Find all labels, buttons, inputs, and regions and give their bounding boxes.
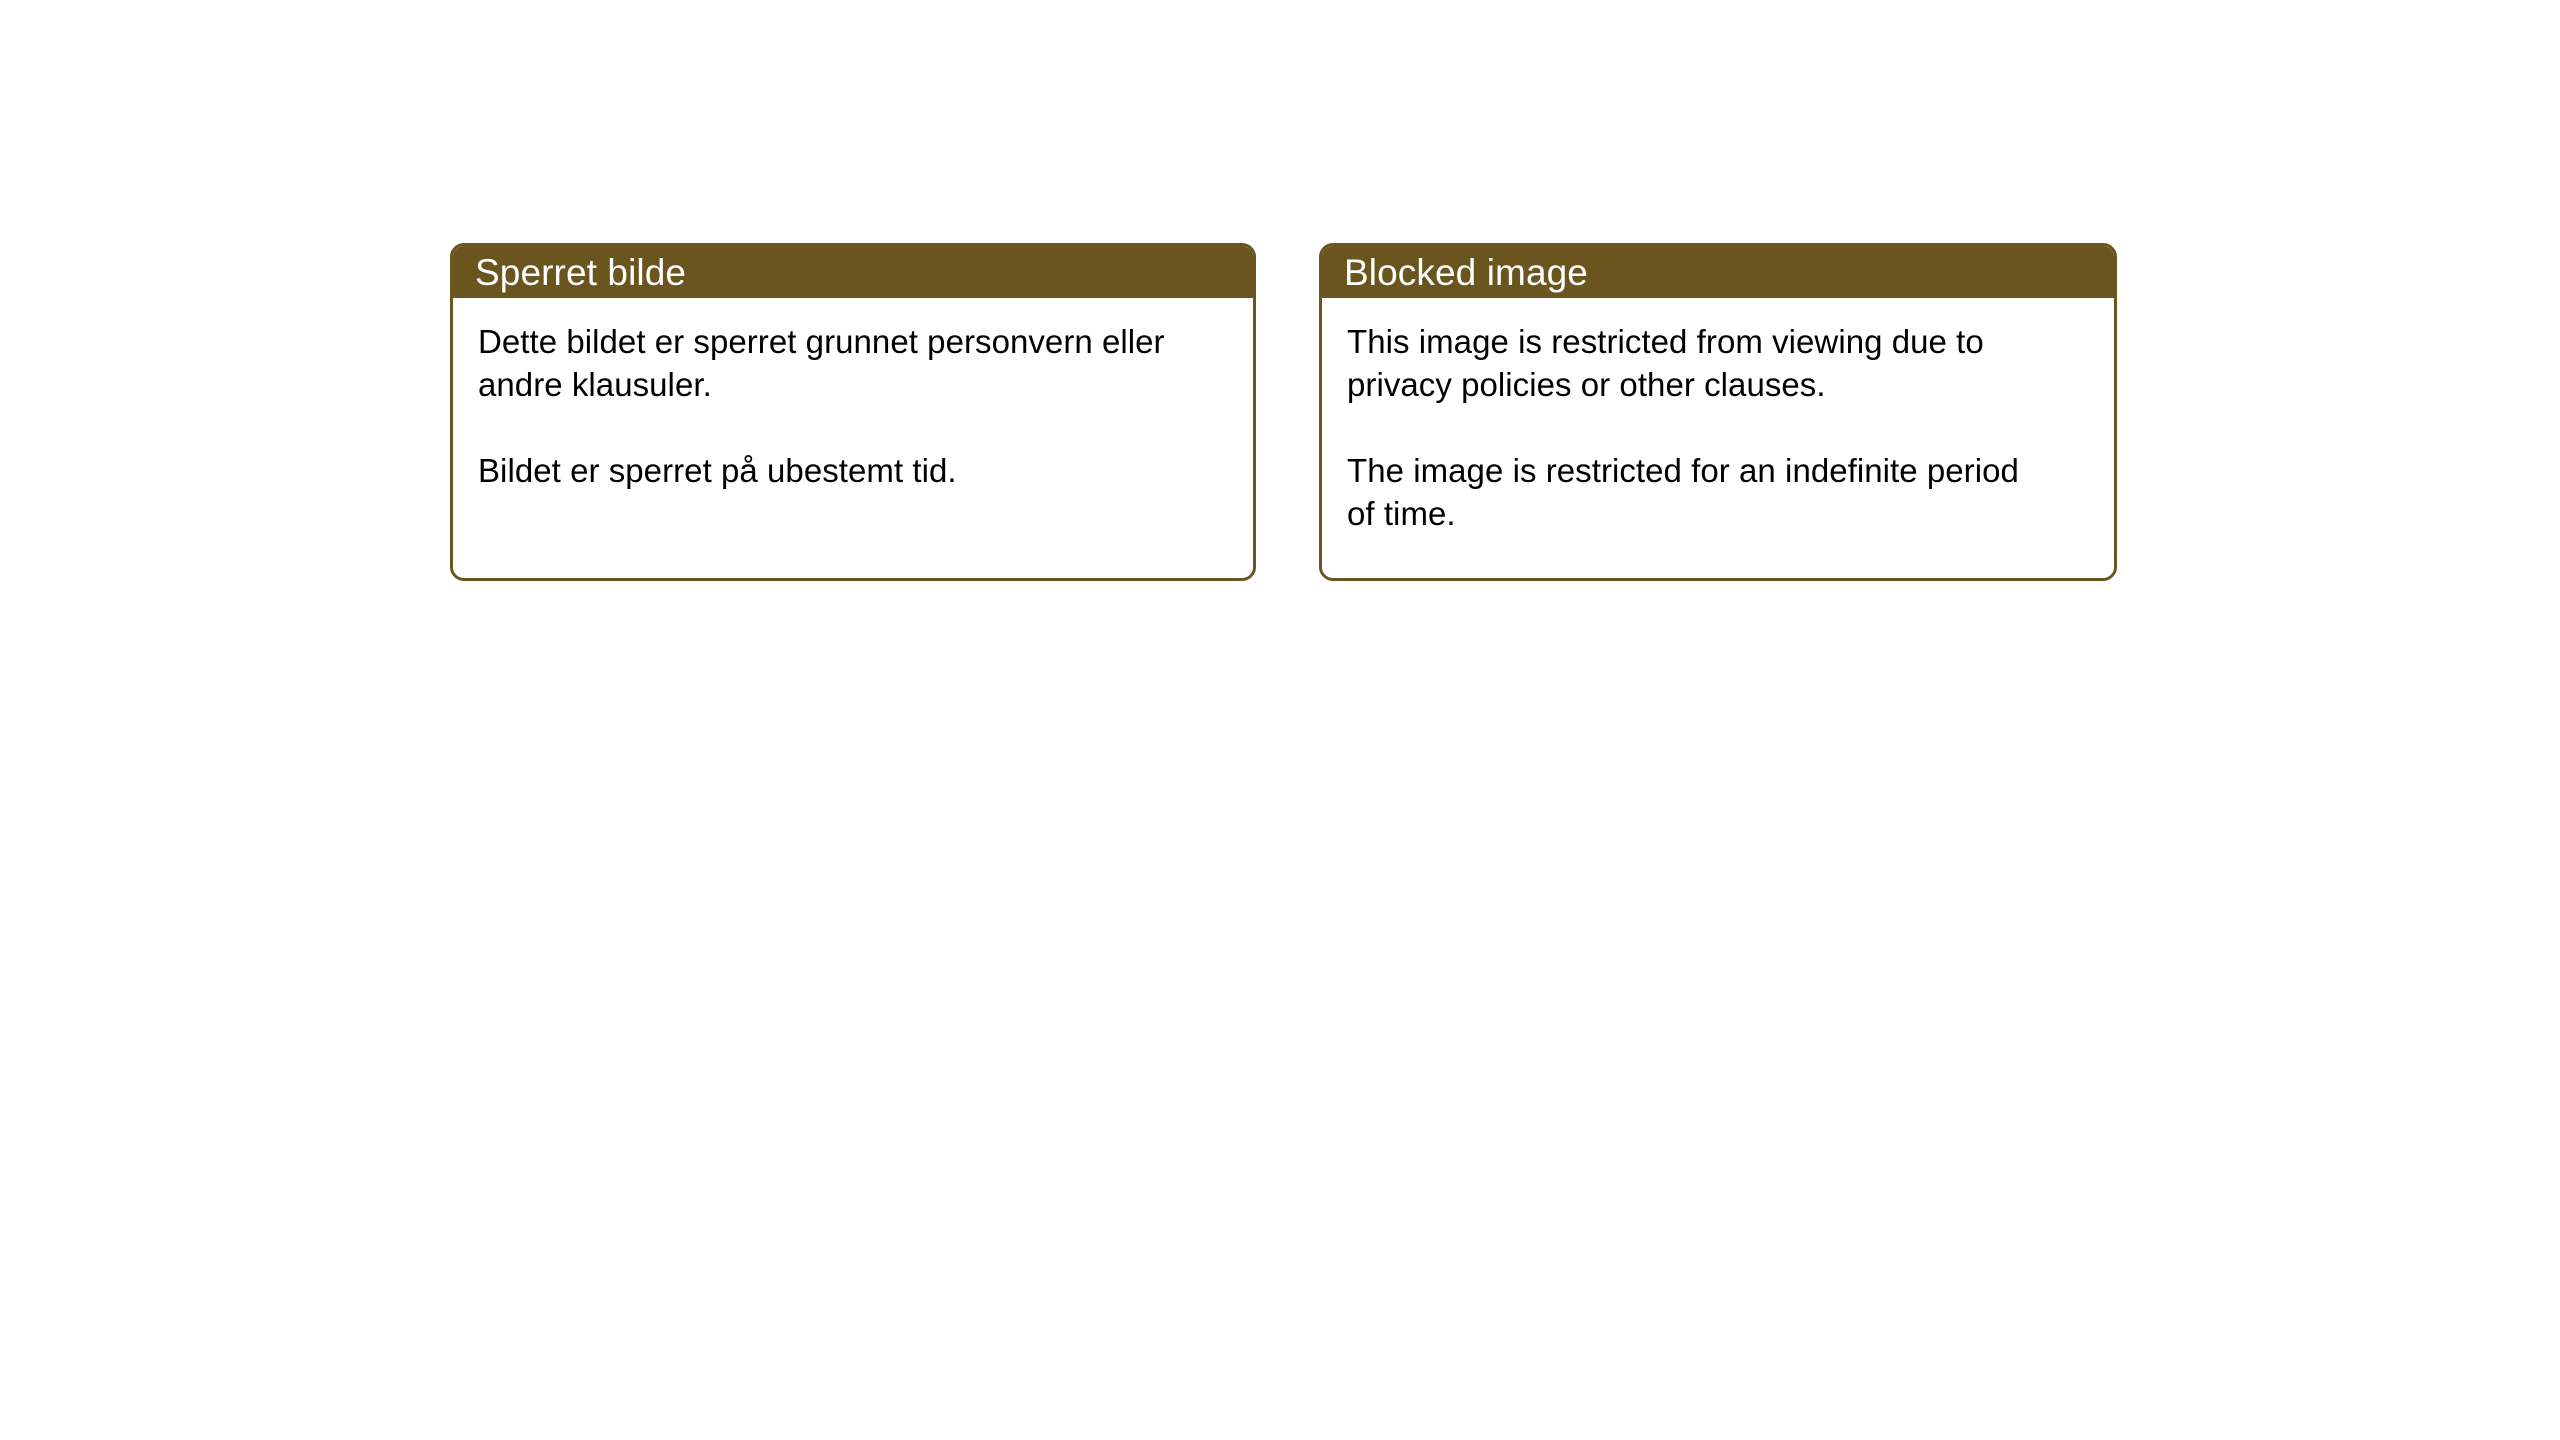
card-paragraph-english-1: This image is restricted from viewing du…	[1347, 320, 2047, 406]
card-paragraph-norwegian-1: Dette bildet er sperret grunnet personve…	[478, 320, 1178, 406]
card-header-norwegian: Sperret bilde	[453, 246, 1253, 298]
blocked-image-notice-group: Sperret bilde Dette bildet er sperret gr…	[450, 243, 2117, 581]
card-paragraph-norwegian-2: Bildet er sperret på ubestemt tid.	[478, 449, 1178, 492]
card-paragraph-english-2: The image is restricted for an indefinit…	[1347, 449, 2047, 535]
blocked-image-card-norwegian: Sperret bilde Dette bildet er sperret gr…	[450, 243, 1256, 581]
card-title-norwegian: Sperret bilde	[475, 254, 686, 291]
card-title-english: Blocked image	[1344, 254, 1588, 291]
blocked-image-card-english: Blocked image This image is restricted f…	[1319, 243, 2117, 581]
card-body-english: This image is restricted from viewing du…	[1322, 298, 2114, 578]
card-body-norwegian: Dette bildet er sperret grunnet personve…	[453, 298, 1253, 578]
card-header-english: Blocked image	[1322, 246, 2114, 298]
